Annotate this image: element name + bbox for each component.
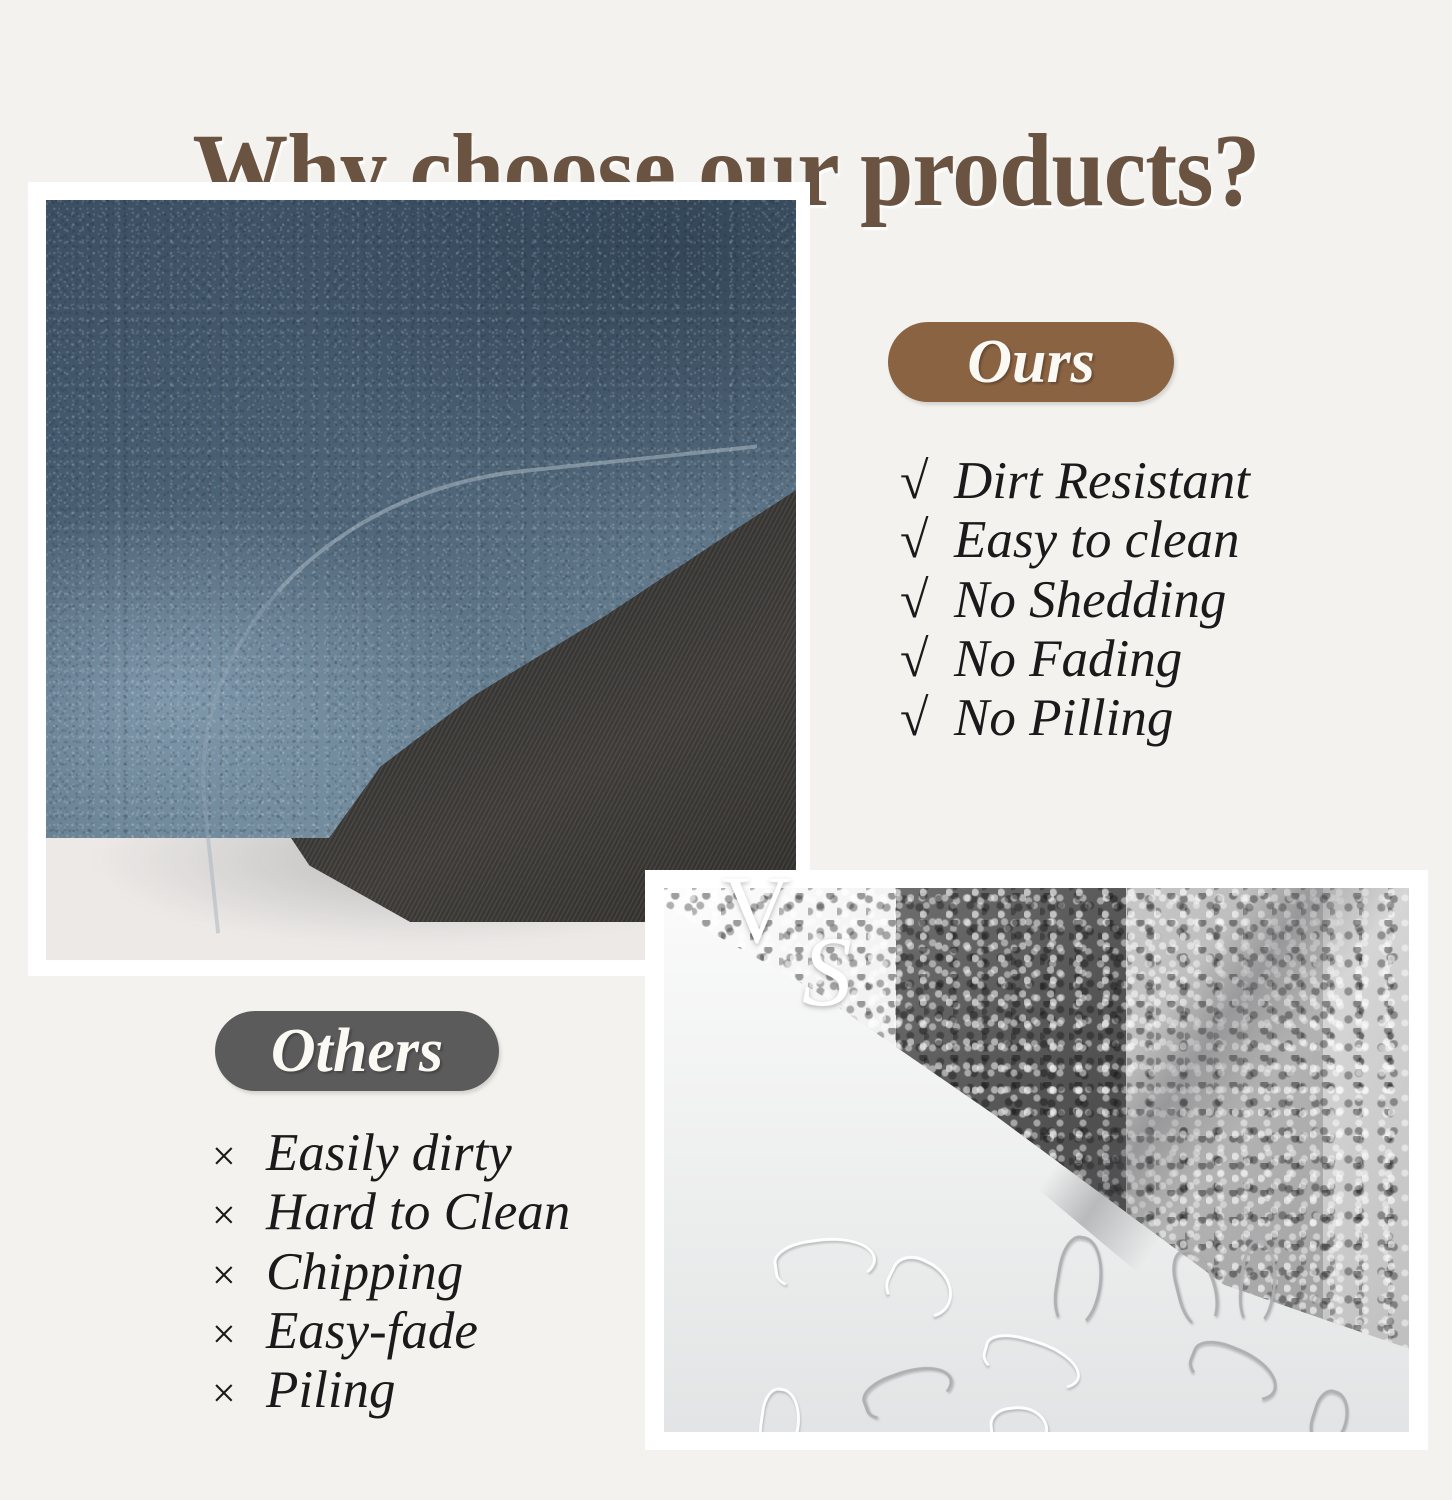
comparison-infographic: Why choose our products? bbox=[0, 0, 1452, 1500]
list-item: √ No Fading bbox=[900, 630, 1250, 689]
list-item-label: Hard to Clean bbox=[266, 1183, 570, 1242]
list-item: × Easy-fade bbox=[212, 1302, 570, 1361]
shed-fiber bbox=[857, 1356, 959, 1429]
ours-feature-list: √ Dirt Resistant √ Easy to clean √ No Sh… bbox=[900, 452, 1250, 749]
ours-badge: Ours bbox=[888, 322, 1174, 402]
shed-fiber bbox=[877, 1248, 963, 1328]
cross-icon: × bbox=[212, 1134, 266, 1181]
check-icon: √ bbox=[900, 631, 954, 689]
shed-fiber bbox=[771, 1231, 879, 1295]
shed-fiber bbox=[988, 1403, 1050, 1432]
shed-fiber bbox=[1304, 1386, 1356, 1432]
shed-fiber bbox=[978, 1327, 1087, 1399]
list-item: √ No Shedding bbox=[900, 571, 1250, 630]
check-icon: √ bbox=[900, 572, 954, 630]
list-item-label: Easy-fade bbox=[266, 1302, 478, 1361]
list-item: × Hard to Clean bbox=[212, 1183, 570, 1242]
list-item: × Easily dirty bbox=[212, 1124, 570, 1183]
shed-fiber bbox=[1182, 1333, 1285, 1412]
list-item-label: No Pilling bbox=[954, 689, 1173, 748]
list-item-label: Easy to clean bbox=[954, 511, 1240, 570]
others-product-photo bbox=[664, 888, 1409, 1432]
cross-icon: × bbox=[212, 1193, 266, 1240]
ours-badge-label: Ours bbox=[967, 327, 1095, 398]
list-item-label: No Fading bbox=[954, 630, 1182, 689]
list-item: √ Dirt Resistant bbox=[900, 452, 1250, 511]
list-item: × Piling bbox=[212, 1361, 570, 1420]
check-icon: √ bbox=[900, 690, 954, 748]
list-item: √ No Pilling bbox=[900, 689, 1250, 748]
check-icon: √ bbox=[900, 512, 954, 570]
list-item: √ Easy to clean bbox=[900, 511, 1250, 570]
others-badge-label: Others bbox=[271, 1016, 443, 1087]
cross-icon: × bbox=[212, 1371, 266, 1418]
list-item-label: Dirt Resistant bbox=[954, 452, 1250, 511]
cross-icon: × bbox=[212, 1312, 266, 1359]
list-item-label: Easily dirty bbox=[266, 1124, 512, 1183]
list-item-label: Piling bbox=[266, 1361, 396, 1420]
shed-fiber bbox=[1048, 1233, 1109, 1332]
check-icon: √ bbox=[900, 453, 954, 511]
list-item: × Chipping bbox=[212, 1243, 570, 1302]
others-feature-list: × Easily dirty × Hard to Clean × Chippin… bbox=[212, 1124, 570, 1421]
ours-product-photo bbox=[46, 200, 796, 960]
others-badge: Others bbox=[215, 1011, 499, 1091]
list-item-label: Chipping bbox=[266, 1243, 463, 1302]
list-item-label: No Shedding bbox=[954, 571, 1226, 630]
cross-icon: × bbox=[212, 1253, 266, 1300]
shed-fiber bbox=[755, 1386, 804, 1432]
